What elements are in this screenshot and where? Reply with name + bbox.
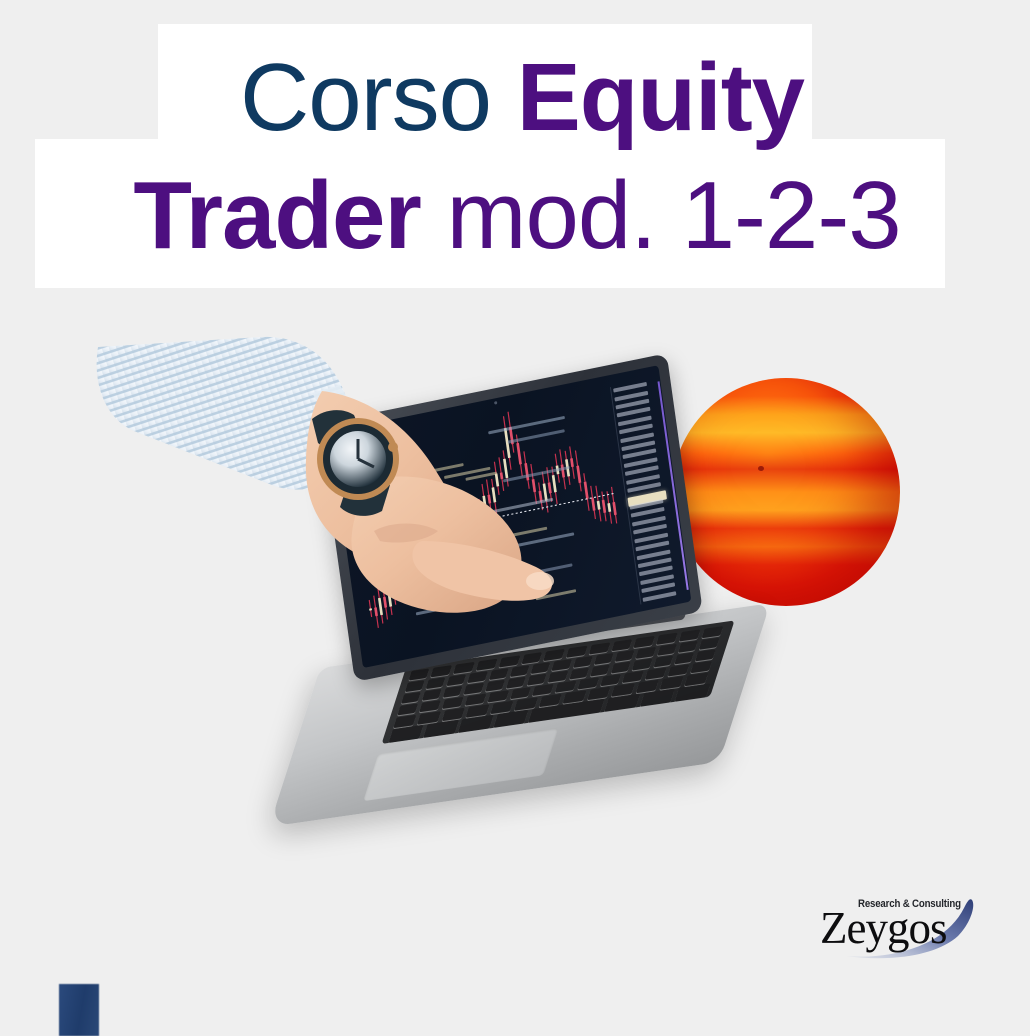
keyboard-key[interactable] [587,687,611,700]
pointing-hand [90,335,560,625]
page-title-line-2: Trader mod. 1-2-3 [0,168,1030,264]
hand-svg [90,335,560,625]
price-tick [643,591,677,602]
title-word-equity: Equity [517,44,804,151]
keyboard-key[interactable] [431,665,453,678]
keyboard-key[interactable] [521,652,543,665]
keyboard-key[interactable] [656,632,678,645]
candle-body [608,503,612,512]
title-word-trader: Trader [133,162,420,269]
keyboard-key[interactable] [453,661,475,674]
keyboard-key[interactable] [699,638,719,650]
title-word-corso: Corso [240,44,517,151]
keyboard-key[interactable] [506,677,526,689]
poster-canvas: Corso Equity Trader mod. 1-2-3 Research … [0,0,1030,1030]
candle-body [584,482,589,500]
zeygos-logo[interactable]: Research & Consulting Zeygos [818,898,983,960]
keyboard-key[interactable] [611,661,631,673]
candle-body [613,502,617,515]
keyboard-key[interactable] [467,671,487,683]
candle-body [592,498,596,511]
title-word-mod: mod. 1-2-3 [421,162,901,269]
keyboard-key[interactable] [657,644,677,656]
keyboard-key[interactable] [632,658,652,670]
keyboard-key[interactable] [588,642,610,655]
keyboard-key[interactable] [640,689,675,706]
keyboard-key[interactable] [615,650,635,662]
keyboard-key[interactable] [388,725,423,742]
navy-corner-block [59,984,99,1036]
keyboard-key[interactable] [425,677,445,689]
keyboard-key[interactable] [552,659,572,671]
keyboard-key[interactable] [446,674,466,686]
keyboard-key[interactable] [498,655,520,668]
logo-wordmark: Zeygos [820,906,946,951]
keyboard-key[interactable] [674,652,694,664]
fingertip [526,572,554,590]
candle-body [597,501,601,510]
candle-body [602,500,606,513]
keyboard-key[interactable] [422,689,442,701]
keyboard-key[interactable] [510,665,530,677]
candle-body [577,466,582,484]
keyboard-key[interactable] [611,639,633,652]
keyboard-key[interactable] [548,671,568,683]
keyboard-key[interactable] [566,645,588,658]
keyboard-key[interactable] [667,664,689,677]
keyboard-key[interactable] [679,629,701,642]
keyboard-key[interactable] [489,668,509,680]
keyboard-key[interactable] [710,679,735,696]
keyboard-key[interactable] [493,710,528,727]
candle-body [571,458,575,467]
keyboard-key[interactable] [531,662,551,674]
keyboard-key[interactable] [404,680,424,692]
keyboard-key[interactable] [605,694,640,711]
watch-crown [388,442,398,452]
keyboard-key[interactable] [443,686,463,698]
keyboard-key[interactable] [678,641,698,653]
keyboard-key[interactable] [543,648,565,661]
keyboard-key[interactable] [590,664,610,676]
keyboard-key[interactable] [464,683,484,695]
keyboard-key[interactable] [476,658,498,671]
keyboard-key[interactable] [485,680,505,692]
keyboard-key[interactable] [653,655,673,667]
keyboard-key[interactable] [458,715,493,732]
keyboard-key[interactable] [695,649,715,661]
keyboard-key[interactable] [636,647,656,659]
keyboard-key[interactable] [690,661,712,674]
keyboard-key[interactable] [594,653,614,665]
page-title-line-1: Corso Equity [0,50,1030,146]
keyboard-key[interactable] [573,656,593,668]
keyboard-key[interactable] [423,720,458,737]
keyboard-key[interactable] [401,692,421,704]
keyboard-key[interactable] [527,674,547,686]
keyboard-key[interactable] [634,635,656,648]
keyboard-key[interactable] [675,684,710,701]
keyboard-key[interactable] [701,626,723,639]
keyboard-key[interactable] [569,668,589,680]
